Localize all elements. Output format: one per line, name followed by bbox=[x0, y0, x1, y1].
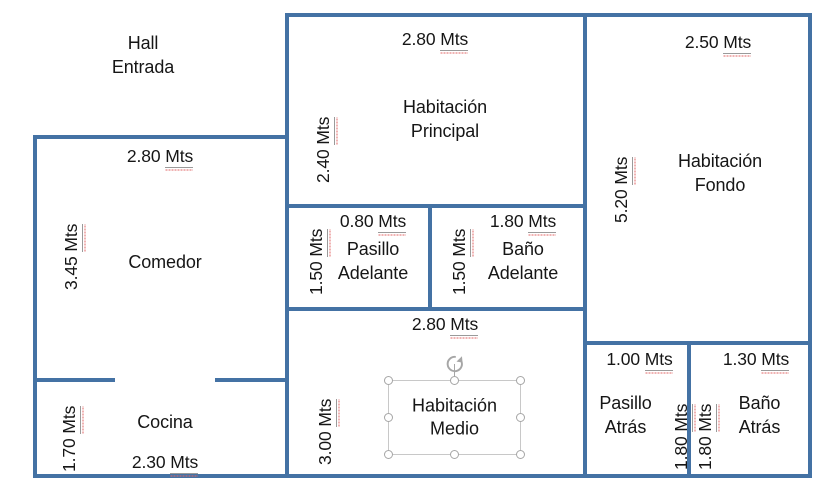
room-label-bano-atras: Baño Atrás bbox=[712, 392, 807, 440]
wall-comedor-cocina-right bbox=[215, 378, 287, 382]
bano-atras-width-unit: Mts bbox=[761, 349, 789, 371]
wall-comedor-cocina-left bbox=[33, 378, 115, 382]
resize-handle-top-center[interactable] bbox=[450, 376, 459, 385]
wall-bottom-left bbox=[33, 474, 287, 478]
wall-below-pasillo-adelante bbox=[285, 307, 587, 311]
dim-cocina-width: 2.30 Mts bbox=[70, 451, 260, 474]
comedor-width-value: 2.80 bbox=[127, 146, 161, 166]
medio-height-value: 3.00 bbox=[315, 431, 335, 465]
wall-below-principal bbox=[285, 204, 587, 208]
pasillo-atras-height-value: 1.80 bbox=[671, 436, 691, 470]
medio-line1: Habitación bbox=[389, 394, 520, 418]
medio-width-unit: Mts bbox=[450, 314, 478, 336]
pasillo-atras-line1: Pasillo bbox=[583, 392, 668, 416]
cocina-width-value: 2.30 bbox=[132, 452, 166, 472]
wall-bottom-right bbox=[285, 474, 812, 478]
dim-habitacion-fondo-width: 2.50 Mts bbox=[628, 31, 808, 54]
resize-handle-bottom-left[interactable] bbox=[384, 450, 393, 459]
room-label-pasillo-atras: Pasillo Atrás bbox=[583, 392, 668, 440]
hall-line1: Hall bbox=[88, 32, 198, 56]
hall-line2: Entrada bbox=[88, 56, 198, 80]
resize-handle-bottom-right[interactable] bbox=[516, 450, 525, 459]
cocina-width-unit: Mts bbox=[170, 452, 198, 474]
principal-width-unit: Mts bbox=[440, 29, 468, 51]
bano-adelante-width-unit: Mts bbox=[528, 211, 556, 233]
pasillo-adelante-width-unit: Mts bbox=[378, 211, 406, 233]
resize-handle-top-left[interactable] bbox=[384, 376, 393, 385]
wall-outer-left bbox=[33, 135, 37, 478]
comedor-width-unit: Mts bbox=[165, 146, 193, 168]
medio-width-value: 2.80 bbox=[412, 314, 446, 334]
pasillo-adelante-width-value: 0.80 bbox=[340, 211, 374, 231]
medio-line2: Medio bbox=[389, 418, 520, 442]
pasillo-atras-line2: Atrás bbox=[583, 416, 668, 440]
bano-atras-height-value: 1.80 bbox=[695, 436, 715, 470]
pasillo-atras-width-unit: Mts bbox=[645, 349, 673, 371]
resize-handle-top-right[interactable] bbox=[516, 376, 525, 385]
bano-adelante-line1: Baño bbox=[462, 238, 584, 262]
resize-handle-middle-left[interactable] bbox=[384, 413, 393, 422]
pasillo-adelante-line1: Pasillo bbox=[318, 238, 428, 262]
bano-atras-line2: Atrás bbox=[712, 416, 807, 440]
room-label-habitacion-principal: Habitación Principal bbox=[340, 96, 550, 144]
dim-habitacion-medio-width: 2.80 Mts bbox=[330, 313, 560, 336]
pasillo-atras-height-unit: Mts bbox=[671, 404, 693, 432]
room-label-habitacion-medio: Habitación Medio bbox=[389, 394, 520, 442]
dim-pasillo-adelante-width: 0.80 Mts bbox=[318, 210, 428, 233]
room-label-habitacion-fondo: Habitación Fondo bbox=[630, 150, 810, 198]
bano-adelante-width-value: 1.80 bbox=[490, 211, 524, 231]
selected-textbox-habitacion-medio[interactable]: Habitación Medio bbox=[388, 380, 521, 455]
comedor-name: Comedor bbox=[128, 252, 201, 272]
fondo-height-value: 5.20 bbox=[611, 189, 631, 223]
principal-height-unit: Mts bbox=[313, 117, 335, 145]
dim-bano-atras-width: 1.30 Mts bbox=[706, 348, 806, 371]
wall-top-comedor bbox=[33, 135, 287, 139]
resize-handle-middle-right[interactable] bbox=[516, 413, 525, 422]
fondo-line2: Fondo bbox=[630, 174, 810, 198]
dim-pasillo-atras-width: 1.00 Mts bbox=[592, 348, 687, 371]
bano-atras-line1: Baño bbox=[712, 392, 807, 416]
floor-plan-canvas: Hall Entrada 2.80 Mts 3.45 Mts Comedor 1… bbox=[0, 0, 828, 491]
principal-line1: Habitación bbox=[340, 96, 550, 120]
dim-comedor-width: 2.80 Mts bbox=[60, 145, 260, 168]
wall-outer-right bbox=[808, 13, 812, 478]
room-label-bano-adelante: Baño Adelante bbox=[462, 238, 584, 286]
dim-bano-adelante-width: 1.80 Mts bbox=[462, 210, 584, 233]
fondo-line1: Habitación bbox=[630, 150, 810, 174]
resize-handle-bottom-center[interactable] bbox=[450, 450, 459, 459]
room-label-comedor: Comedor bbox=[70, 251, 260, 275]
room-label-pasillo-adelante: Pasillo Adelante bbox=[318, 238, 428, 286]
wall-top-center bbox=[285, 13, 812, 17]
wall-vertical-center-left bbox=[285, 13, 289, 478]
rotate-handle-icon[interactable] bbox=[444, 353, 466, 375]
fondo-width-value: 2.50 bbox=[685, 32, 719, 52]
cocina-name: Cocina bbox=[137, 412, 192, 432]
principal-line2: Principal bbox=[340, 120, 550, 144]
room-label-cocina: Cocina bbox=[70, 411, 260, 435]
medio-height-unit: Mts bbox=[315, 399, 337, 427]
wall-above-pasillo-atras bbox=[583, 341, 812, 345]
room-label-hall: Hall Entrada bbox=[88, 32, 198, 80]
pasillo-atras-width-value: 1.00 bbox=[606, 349, 640, 369]
dim-principal-height: 2.40 Mts bbox=[312, 117, 335, 183]
pasillo-adelante-line2: Adelante bbox=[318, 262, 428, 286]
principal-height-value: 2.40 bbox=[313, 149, 333, 183]
bano-adelante-line2: Adelante bbox=[462, 262, 584, 286]
fondo-width-unit: Mts bbox=[723, 32, 751, 54]
dim-principal-width: 2.80 Mts bbox=[320, 28, 550, 51]
comedor-height-unit: Mts bbox=[61, 224, 83, 252]
principal-width-value: 2.80 bbox=[402, 29, 436, 49]
wall-divider-pasillo-bano-adelante bbox=[428, 204, 432, 311]
dim-habitacion-medio-height: 3.00 Mts bbox=[314, 399, 337, 465]
bano-atras-width-value: 1.30 bbox=[723, 349, 757, 369]
dim-pasillo-atras-height: 1.80 Mts bbox=[670, 404, 693, 470]
